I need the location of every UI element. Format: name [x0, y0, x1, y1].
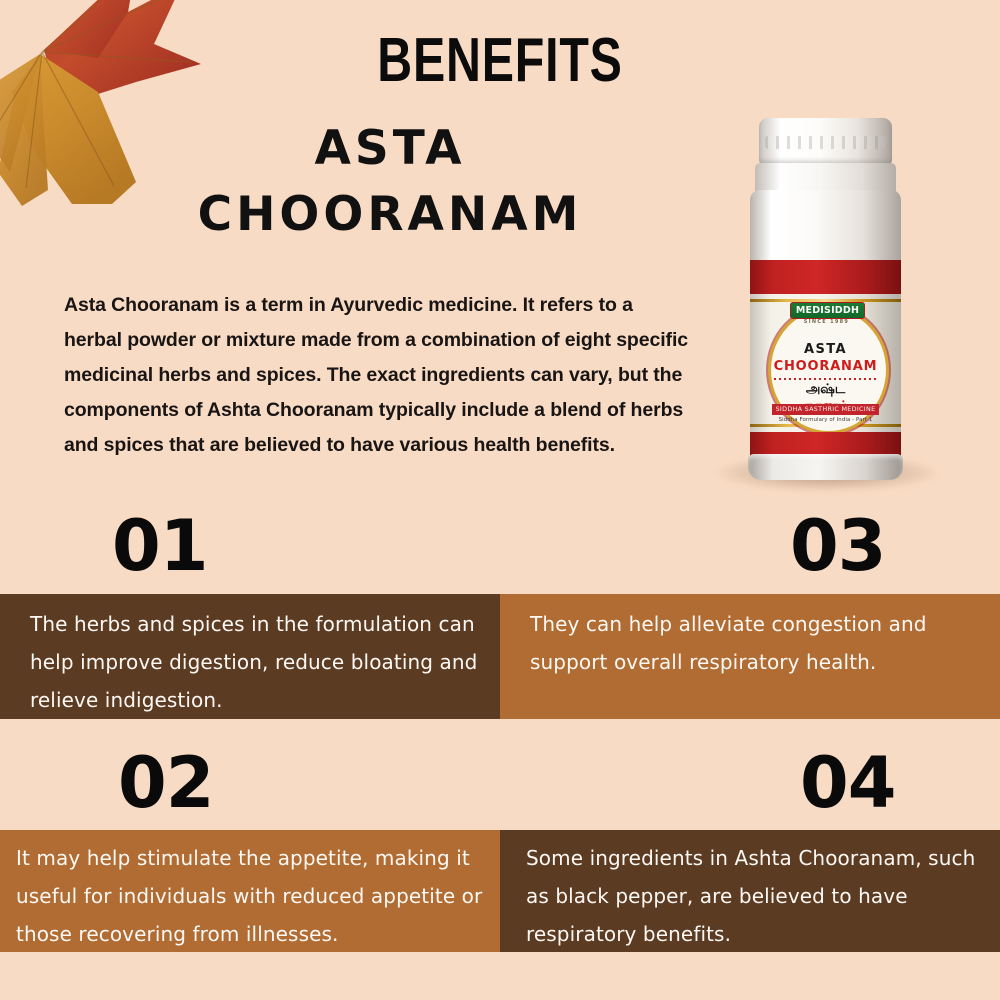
label-name-en-line2: CHOORANAM [750, 359, 901, 374]
bottle-label-red-top [750, 260, 901, 294]
product-bottle-image: MEDISIDDH SINCE 1989 ASTA CHOORANAM அஷ்ட… [735, 118, 915, 480]
benefit-card-04: Some ingredients in Ashta Chooranam, suc… [500, 830, 1000, 952]
label-name-ta-line1: அஷ்ட [750, 382, 901, 398]
benefit-text-02: It may help stimulate the appetite, maki… [16, 839, 492, 953]
benefit-text-01: The herbs and spices in the formulation … [30, 605, 492, 719]
benefit-card-01: The herbs and spices in the formulation … [0, 594, 500, 719]
page-title: BENEFITS [110, 28, 890, 94]
label-name-en-line1: ASTA [750, 342, 901, 357]
benefit-text-04: Some ingredients in Ashta Chooranam, suc… [526, 839, 992, 953]
bottle-label: MEDISIDDH SINCE 1989 ASTA CHOORANAM அஷ்ட… [750, 294, 901, 432]
brand-since-text: SINCE 1989 [790, 319, 863, 325]
label-reference-text: Siddha Formulary of India - Part 1 [750, 417, 901, 423]
bottle-base [748, 454, 903, 480]
benefit-text-03: They can help alleviate congestion and s… [530, 605, 992, 681]
product-title-line1: ASTA [314, 121, 465, 176]
brand-logo: MEDISIDDH [790, 302, 865, 319]
benefit-card-02: It may help stimulate the appetite, maki… [0, 830, 500, 952]
bottle-cap-ridges [765, 136, 886, 149]
intro-paragraph: Asta Chooranam is a term in Ayurvedic me… [64, 288, 689, 463]
label-dotted-divider [774, 378, 877, 380]
benefit-number-03: 03 [790, 511, 885, 581]
benefit-number-01: 01 [112, 511, 207, 581]
benefit-card-03: They can help alleviate congestion and s… [500, 594, 1000, 719]
benefit-number-02: 02 [118, 748, 213, 818]
benefit-number-04: 04 [800, 748, 895, 818]
benefits-infographic: BENEFITS ASTA CHOORANAM Asta Chooranam i… [0, 0, 1000, 1000]
label-category-banner: SIDDHA SASTHRIC MEDICINE [772, 404, 879, 415]
product-title-line2: CHOORANAM [60, 182, 720, 248]
product-title: ASTA CHOORANAM [60, 116, 720, 248]
